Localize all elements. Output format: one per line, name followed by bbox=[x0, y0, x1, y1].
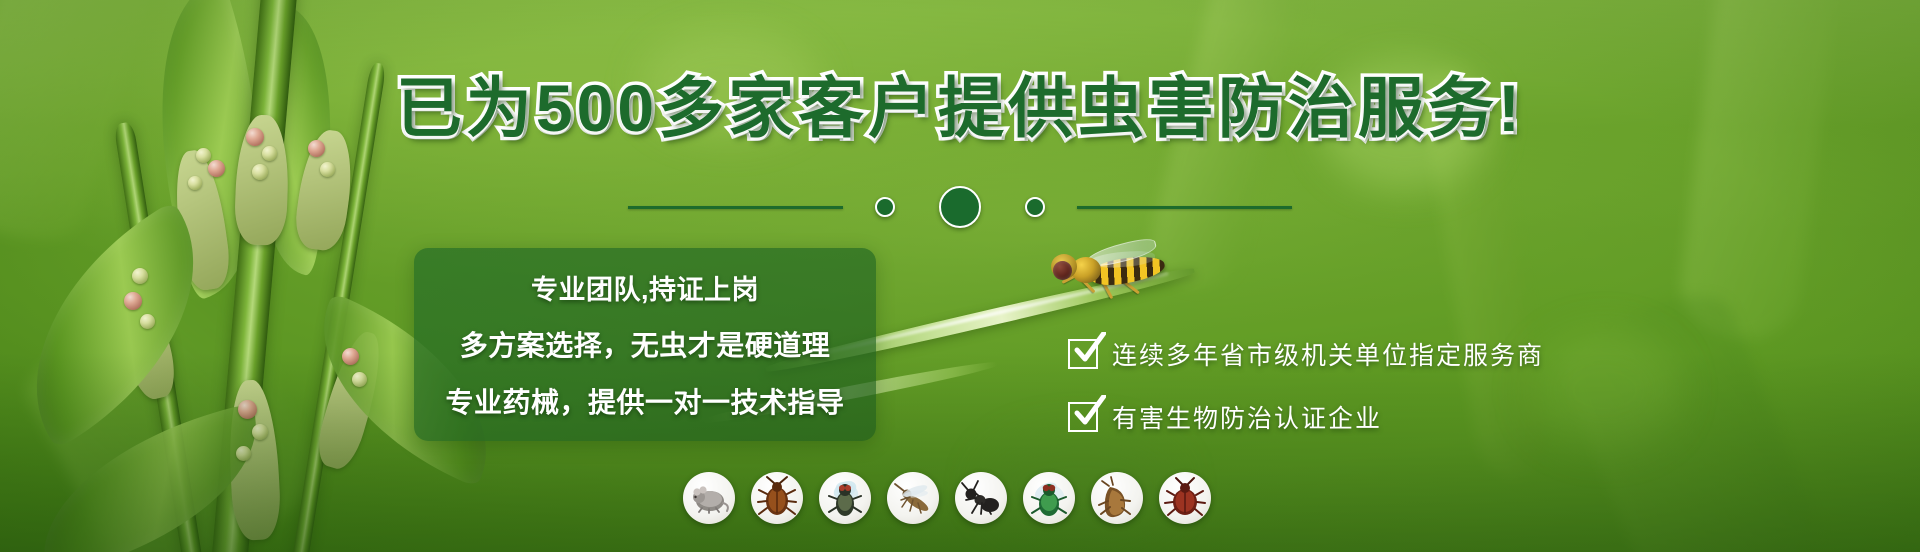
promotional-banner: 已为500多家客户提供虫害防治服务! 专业团队,持证上岗 多方案选择，无虫才是硬… bbox=[0, 0, 1920, 552]
divider-dot-small-left bbox=[875, 197, 895, 217]
checkbox-checked-icon bbox=[1068, 339, 1098, 369]
certification-label: 连续多年省市级机关单位指定服务商 bbox=[1112, 336, 1544, 372]
divider-dot-large bbox=[939, 186, 981, 228]
decorative-divider bbox=[0, 186, 1920, 228]
selling-point-line-3: 专业药械，提供一对一技术指导 bbox=[445, 381, 844, 421]
list-item: 连续多年省市级机关单位指定服务商 bbox=[1068, 336, 1544, 372]
list-item: 有害生物防治认证企业 bbox=[1068, 399, 1544, 435]
blowfly-icon[interactable] bbox=[1023, 472, 1075, 524]
divider-dot-small-right bbox=[1025, 197, 1045, 217]
certification-list: 连续多年省市级机关单位指定服务商 有害生物防治认证企业 bbox=[1068, 336, 1544, 435]
mouse-icon[interactable] bbox=[683, 472, 735, 524]
ant-icon[interactable] bbox=[955, 472, 1007, 524]
pest-type-icon-row bbox=[683, 472, 1211, 524]
page-title: 已为500多家客户提供虫害防治服务! bbox=[0, 72, 1920, 146]
selling-point-line-1: 专业团队,持证上岗 bbox=[531, 268, 759, 307]
flea-icon[interactable] bbox=[1091, 472, 1143, 524]
selling-point-line-2: 多方案选择，无虫才是硬道理 bbox=[460, 324, 831, 364]
certification-label: 有害生物防治认证企业 bbox=[1112, 399, 1382, 435]
housefly-icon[interactable] bbox=[819, 472, 871, 524]
checkbox-checked-icon bbox=[1068, 402, 1098, 432]
selling-points-panel: 专业团队,持证上岗 多方案选择，无虫才是硬道理 专业药械，提供一对一技术指导 bbox=[414, 248, 876, 441]
mosquito-icon[interactable] bbox=[887, 472, 939, 524]
divider-rule-right bbox=[1077, 206, 1292, 209]
cockroach-icon[interactable] bbox=[751, 472, 803, 524]
bedbug-icon[interactable] bbox=[1159, 472, 1211, 524]
divider-rule-left bbox=[628, 206, 843, 209]
